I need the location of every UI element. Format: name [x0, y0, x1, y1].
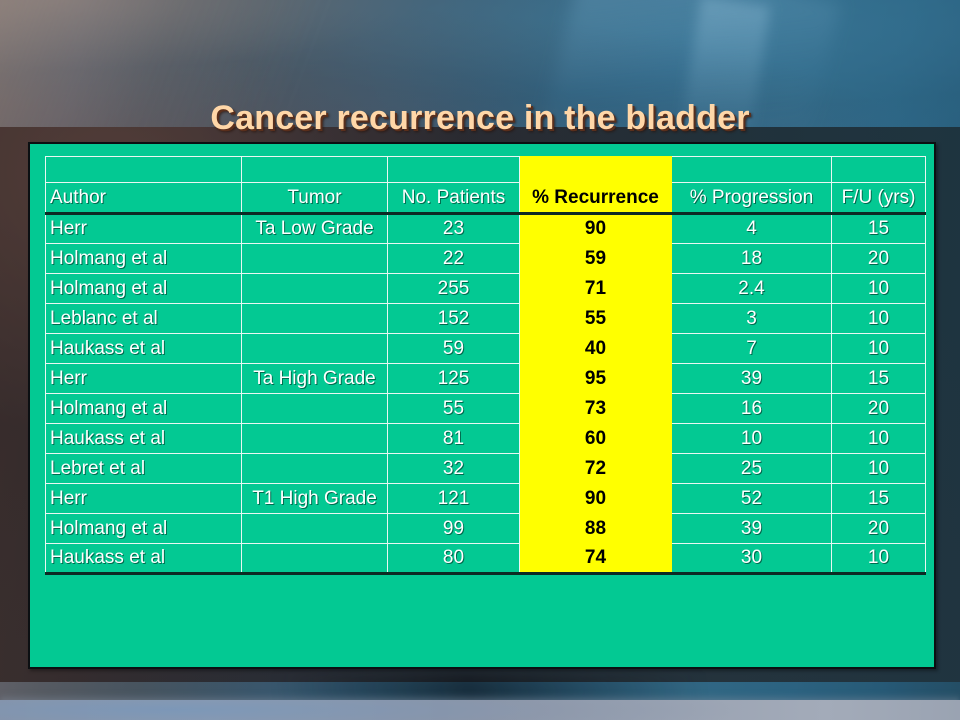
- table-row: HerrT1 High Grade121905215: [46, 484, 926, 514]
- cell-no-patients: 81: [388, 424, 520, 454]
- cell-pct-progression: 4: [672, 214, 832, 244]
- cell-pct-recurrence: 90: [520, 484, 672, 514]
- column-header-no-patients: No. Patients: [388, 183, 520, 214]
- column-header-fu-yrs: F/U (yrs): [832, 183, 926, 214]
- cell-author: Herr: [46, 484, 242, 514]
- cell-pct-recurrence: 73: [520, 394, 672, 424]
- table-header-row: Author Tumor No. Patients % Recurrence %…: [46, 183, 926, 214]
- cell-tumor: Ta Low Grade: [242, 214, 388, 244]
- cell-pct-progression: 25: [672, 454, 832, 484]
- cell-pct-progression: 7: [672, 334, 832, 364]
- cell-no-patients: 22: [388, 244, 520, 274]
- cell-no-patients: 99: [388, 514, 520, 544]
- table-row: HerrTa Low Grade2390415: [46, 214, 926, 244]
- cell-fu-yrs: 20: [832, 514, 926, 544]
- cell-author: Haukass et al: [46, 544, 242, 574]
- cell-pct-progression: 18: [672, 244, 832, 274]
- cell-fu-yrs: 15: [832, 364, 926, 394]
- cell-no-patients: 55: [388, 394, 520, 424]
- cell-fu-yrs: 20: [832, 244, 926, 274]
- cell-pct-recurrence: 95: [520, 364, 672, 394]
- cell-tumor: [242, 544, 388, 574]
- table-row: Holmang et al99883920: [46, 514, 926, 544]
- cell-fu-yrs: 10: [832, 274, 926, 304]
- column-header-pct-recurrence: % Recurrence: [520, 183, 672, 214]
- recurrence-table: Author Tumor No. Patients % Recurrence %…: [45, 156, 926, 575]
- spacer-cell: [46, 157, 242, 183]
- cell-author: Holmang et al: [46, 244, 242, 274]
- cell-fu-yrs: 10: [832, 304, 926, 334]
- spacer-cell: [832, 157, 926, 183]
- cell-pct-recurrence: 40: [520, 334, 672, 364]
- table-row: Lebret et al32722510: [46, 454, 926, 484]
- cell-author: Holmang et al: [46, 274, 242, 304]
- spacer-cell: [242, 157, 388, 183]
- cell-pct-recurrence: 55: [520, 304, 672, 334]
- cell-tumor: T1 High Grade: [242, 484, 388, 514]
- cell-no-patients: 23: [388, 214, 520, 244]
- table-row: Holmang et al55731620: [46, 394, 926, 424]
- cell-tumor: [242, 514, 388, 544]
- table-row: Haukass et al5940710: [46, 334, 926, 364]
- cell-no-patients: 121: [388, 484, 520, 514]
- cell-tumor: [242, 394, 388, 424]
- cell-pct-recurrence: 71: [520, 274, 672, 304]
- cell-tumor: Ta High Grade: [242, 364, 388, 394]
- cell-pct-recurrence: 72: [520, 454, 672, 484]
- cell-author: Holmang et al: [46, 514, 242, 544]
- table-spacer-row: [46, 157, 926, 183]
- cell-author: Haukass et al: [46, 424, 242, 454]
- cell-pct-progression: 39: [672, 364, 832, 394]
- cell-pct-progression: 39: [672, 514, 832, 544]
- cell-no-patients: 32: [388, 454, 520, 484]
- table-body: Author Tumor No. Patients % Recurrence %…: [46, 157, 926, 574]
- cell-pct-progression: 30: [672, 544, 832, 574]
- cell-author: Haukass et al: [46, 334, 242, 364]
- table-row: Leblanc et al15255310: [46, 304, 926, 334]
- cell-fu-yrs: 20: [832, 394, 926, 424]
- column-header-tumor: Tumor: [242, 183, 388, 214]
- cell-pct-recurrence: 88: [520, 514, 672, 544]
- column-header-pct-progression: % Progression: [672, 183, 832, 214]
- cell-fu-yrs: 10: [832, 334, 926, 364]
- cell-pct-recurrence: 90: [520, 214, 672, 244]
- cell-tumor: [242, 274, 388, 304]
- cell-pct-recurrence: 60: [520, 424, 672, 454]
- cell-author: Leblanc et al: [46, 304, 242, 334]
- cell-pct-progression: 10: [672, 424, 832, 454]
- cell-no-patients: 152: [388, 304, 520, 334]
- content-panel: Author Tumor No. Patients % Recurrence %…: [28, 142, 936, 669]
- spacer-cell-highlight: [520, 157, 672, 183]
- cell-pct-recurrence: 74: [520, 544, 672, 574]
- cell-tumor: [242, 334, 388, 364]
- table-row: Haukass et al80743010: [46, 544, 926, 574]
- cell-tumor: [242, 244, 388, 274]
- cell-pct-progression: 52: [672, 484, 832, 514]
- cell-tumor: [242, 424, 388, 454]
- cell-no-patients: 80: [388, 544, 520, 574]
- cell-no-patients: 59: [388, 334, 520, 364]
- cell-no-patients: 255: [388, 274, 520, 304]
- table-row: Holmang et al255712.410: [46, 274, 926, 304]
- cell-author: Holmang et al: [46, 394, 242, 424]
- presentation-slide: Cancer recurrence in the bladder This is…: [0, 0, 960, 720]
- background-bottom-band: [0, 700, 960, 720]
- cell-tumor: [242, 454, 388, 484]
- table-row: Haukass et al81601010: [46, 424, 926, 454]
- cell-pct-progression: 3: [672, 304, 832, 334]
- spacer-cell: [388, 157, 520, 183]
- cell-author: Herr: [46, 214, 242, 244]
- cell-fu-yrs: 15: [832, 214, 926, 244]
- cell-no-patients: 125: [388, 364, 520, 394]
- spacer-cell: [672, 157, 832, 183]
- cell-author: Herr: [46, 364, 242, 394]
- cell-pct-progression: 16: [672, 394, 832, 424]
- cell-fu-yrs: 10: [832, 454, 926, 484]
- table-row: Holmang et al22591820: [46, 244, 926, 274]
- cell-pct-recurrence: 59: [520, 244, 672, 274]
- table-row: HerrTa High Grade125953915: [46, 364, 926, 394]
- cell-fu-yrs: 10: [832, 424, 926, 454]
- cell-pct-progression: 2.4: [672, 274, 832, 304]
- cell-author: Lebret et al: [46, 454, 242, 484]
- cell-tumor: [242, 304, 388, 334]
- column-header-author: Author: [46, 183, 242, 214]
- cell-fu-yrs: 15: [832, 484, 926, 514]
- cell-fu-yrs: 10: [832, 544, 926, 574]
